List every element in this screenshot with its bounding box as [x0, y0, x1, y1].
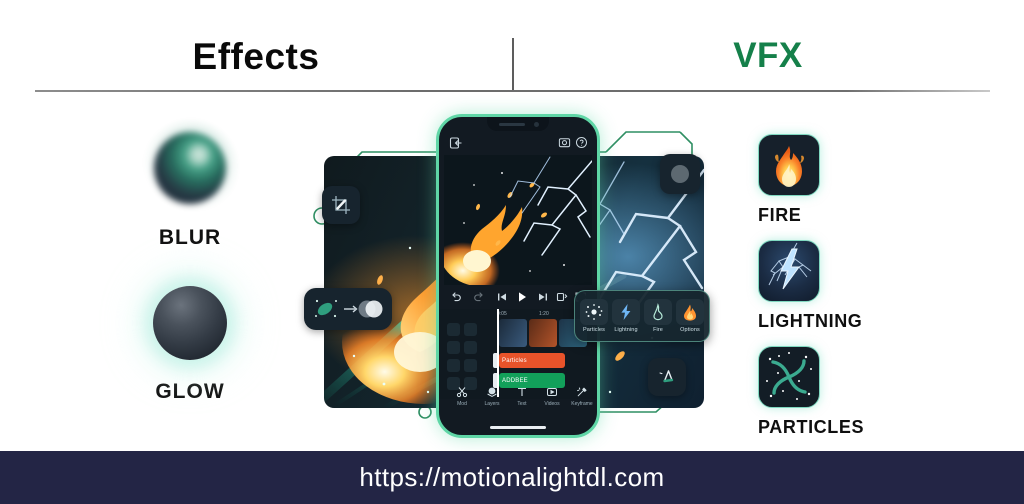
timeline-time-1: 1:20 — [539, 311, 549, 317]
lightning-icon — [612, 299, 640, 325]
vfx-item-lightning[interactable]: LIGHTNING — [758, 240, 862, 332]
vfx-panel-label-options: Options — [675, 327, 705, 333]
timeline-playhead[interactable] — [497, 309, 499, 397]
header-horizontal-divider — [35, 90, 990, 92]
header: Effects VFX — [0, 0, 1024, 92]
nav-label-videos: Videos — [544, 401, 559, 407]
phone-topbar — [439, 133, 597, 155]
particles-icon — [758, 346, 820, 408]
home-indicator — [490, 426, 546, 429]
flame-outline-icon — [644, 299, 672, 325]
layers-icon — [477, 385, 507, 398]
help-icon[interactable] — [575, 136, 588, 149]
fire-icon — [758, 134, 820, 196]
page-title-effects: Effects — [0, 38, 512, 75]
glowing-sphere-icon — [100, 282, 280, 368]
timeline-tool-4[interactable] — [464, 341, 477, 354]
lightning-icon — [758, 240, 820, 302]
vfx-label-particles: PARTICLES — [758, 417, 864, 438]
nav-item-text[interactable]: Text — [507, 385, 537, 407]
nav-label-layers: Layers — [484, 401, 499, 407]
footer-bar: https://motionalightdl.com — [0, 451, 1024, 504]
effect-item-glow[interactable]: GLOW — [100, 282, 280, 404]
effect-label-blur: BLUR — [100, 226, 280, 250]
website-url[interactable]: https://motionalightdl.com — [359, 462, 664, 493]
phone-mockup: 0:05 1:20 Particles ADDBEE — [436, 114, 600, 438]
header-vertical-divider — [512, 38, 514, 92]
timeline-tool-5[interactable] — [447, 359, 460, 372]
vfx-panel-label-lightning: Lightning — [611, 327, 641, 333]
vfx-floating-panel[interactable]: Particles Lightning Fire Options — [574, 290, 710, 342]
timeline-thumb-2[interactable] — [529, 319, 557, 347]
text-icon — [507, 385, 537, 398]
blurred-sphere-icon — [100, 128, 280, 214]
vfx-panel-item-lightning[interactable]: Lightning — [611, 299, 641, 333]
mask-icon — [667, 161, 693, 187]
phone-bottom-nav: Mod Layers Text — [439, 385, 597, 419]
scissors-icon — [447, 385, 477, 398]
vfx-label-lightning: LIGHTNING — [758, 311, 862, 332]
transition-icon — [311, 295, 385, 323]
nav-item-layers[interactable]: Layers — [477, 385, 507, 407]
timeline-tool-1[interactable] — [447, 323, 460, 336]
nav-item-keyframe[interactable]: Keyframe — [567, 385, 597, 407]
crop-tool-badge[interactable] — [322, 186, 360, 224]
vfx-panel-item-fire[interactable]: Fire — [643, 299, 673, 333]
vfx-item-fire[interactable]: FIRE — [758, 134, 820, 226]
vfx-label-fire: FIRE — [758, 205, 820, 226]
skip-previous-icon[interactable] — [496, 291, 508, 303]
nav-item-videos[interactable]: Videos — [537, 385, 567, 407]
nav-label-keyframe: Keyframe — [571, 401, 592, 407]
timeline-track-particles[interactable]: Particles — [499, 353, 565, 368]
effect-item-blur[interactable]: BLUR — [100, 128, 280, 250]
split-icon[interactable] — [556, 291, 568, 303]
vfx-item-particles[interactable]: PARTICLES — [758, 346, 864, 438]
keyframe-badge[interactable] — [648, 358, 686, 396]
fire-icon — [676, 299, 704, 325]
nav-item-mod[interactable]: Mod — [447, 385, 477, 407]
skip-next-icon[interactable] — [537, 291, 549, 303]
timeline-thumb-1[interactable] — [499, 319, 527, 347]
camera-icon[interactable] — [558, 136, 571, 149]
timeline-tool-3[interactable] — [447, 341, 460, 354]
mask-badge[interactable] — [660, 154, 700, 194]
particles-icon — [580, 299, 608, 325]
app-preview-artwork: 0:05 1:20 Particles ADDBEE — [288, 96, 736, 448]
crop-icon — [330, 194, 352, 216]
nav-label-mod: Mod — [457, 401, 467, 407]
keyframe-icon — [655, 365, 679, 389]
vfx-panel-item-particles[interactable]: Particles — [579, 299, 609, 333]
timeline-tool-6[interactable] — [464, 359, 477, 372]
transition-badge[interactable] — [304, 288, 392, 330]
screenshot-root: Effects VFX BLUR GLOW — [0, 0, 1024, 504]
page-title-vfx: VFX — [512, 38, 1024, 73]
effect-label-glow: GLOW — [100, 380, 280, 404]
export-icon[interactable] — [449, 136, 463, 150]
nav-label-text: Text — [517, 401, 526, 407]
video-icon — [537, 385, 567, 398]
vfx-panel-label-particles: Particles — [579, 327, 609, 333]
phone-notch — [487, 117, 549, 131]
play-icon[interactable] — [515, 290, 529, 304]
timeline-tool-2[interactable] — [464, 323, 477, 336]
vfx-panel-label-fire: Fire — [643, 327, 673, 333]
undo-icon[interactable] — [450, 291, 462, 303]
redo-icon[interactable] — [473, 291, 485, 303]
vfx-panel-item-options[interactable]: Options — [675, 299, 705, 333]
wand-icon — [567, 385, 597, 398]
phone-video-preview[interactable] — [444, 155, 592, 285]
